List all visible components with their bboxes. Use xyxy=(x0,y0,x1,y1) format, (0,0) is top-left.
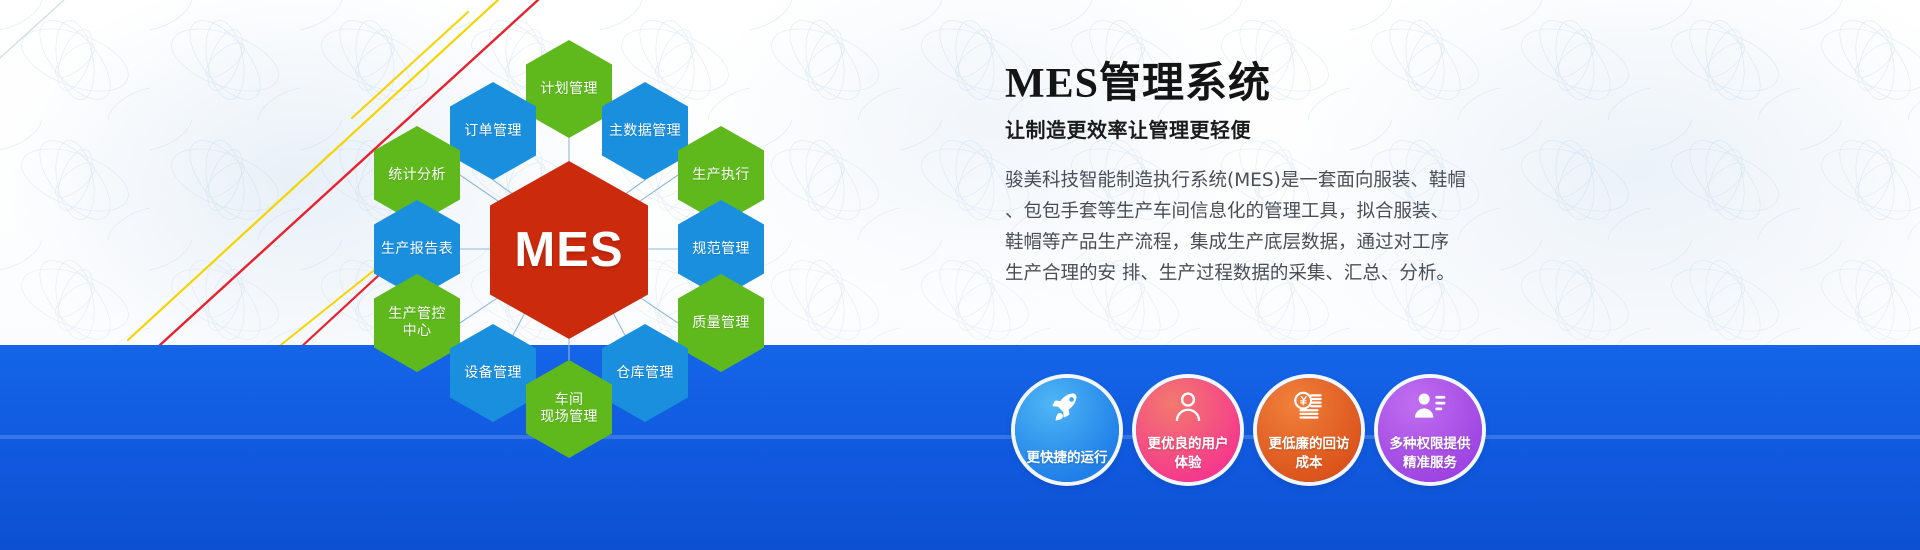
hex-node-label: 质量管理 xyxy=(688,315,754,332)
description-paragraph: 骏美科技智能制造执行系统(MES)是一套面向服装、鞋帽、包包手套等生产车间信息化… xyxy=(1005,165,1565,289)
user-icon xyxy=(1171,390,1205,424)
feature-badge-label: 多种权限提供精准服务 xyxy=(1384,435,1477,473)
hex-node-label: 车间现场管理 xyxy=(536,392,602,426)
hex-node-label: 规范管理 xyxy=(688,241,754,258)
background-blue-highlight-strip xyxy=(0,435,1920,439)
description-line-1: 骏美科技智能制造执行系统(MES)是一套面向服装、鞋帽 xyxy=(1005,165,1565,196)
page-title: MES管理系统 xyxy=(1005,60,1645,108)
hex-node-label: 生产管控中心 xyxy=(384,306,450,340)
hex-node-label: 统计分析 xyxy=(384,167,450,184)
page-subtitle: 让制造更效率让管理更轻便 xyxy=(1005,114,1645,143)
rocket-icon xyxy=(1050,390,1084,424)
feature-badge-cost[interactable]: 更低廉的回访成本 xyxy=(1257,378,1361,482)
hex-node-label: 生产报告表 xyxy=(377,241,457,258)
hex-node-label: 主数据管理 xyxy=(605,123,685,140)
hex-node-label: 设备管理 xyxy=(460,365,526,382)
hex-node-label: 仓库管理 xyxy=(612,365,678,382)
feature-badge-list: 更快捷的运行更优良的用户体验更低廉的回访成本多种权限提供精准服务 xyxy=(1015,378,1482,482)
feature-badge-label: 更快捷的运行 xyxy=(1021,449,1114,468)
hex-node-label: 订单管理 xyxy=(460,123,526,140)
feature-badge-label: 更优良的用户体验 xyxy=(1142,435,1235,473)
hex-node-core-label: MES xyxy=(510,242,627,259)
feature-badge-label: 更低廉的回访成本 xyxy=(1263,435,1356,473)
mes-banner: MES计划管理订单管理主数据管理统计分析生产执行生产报告表规范管理生产管控中心质… xyxy=(0,0,1920,550)
user-list-icon xyxy=(1413,390,1447,424)
feature-badge-ux[interactable]: 更优良的用户体验 xyxy=(1136,378,1240,482)
mes-hexagon-diagram: MES计划管理订单管理主数据管理统计分析生产执行生产报告表规范管理生产管控中心质… xyxy=(330,18,800,438)
hex-node-label: 生产执行 xyxy=(688,167,754,184)
background-blue-band xyxy=(0,345,1920,550)
feature-badge-permission[interactable]: 多种权限提供精准服务 xyxy=(1378,378,1482,482)
description-line-4: 生产合理的安 排、生产过程数据的采集、汇总、分析。 xyxy=(1005,258,1565,289)
coins-yen-icon xyxy=(1292,390,1326,424)
feature-badge-speed[interactable]: 更快捷的运行 xyxy=(1015,378,1119,482)
banner-text-column: MES管理系统 让制造更效率让管理更轻便 骏美科技智能制造执行系统(MES)是一… xyxy=(1005,60,1645,289)
description-line-2: 、包包手套等生产车间信息化的管理工具，拟合服装、 xyxy=(1005,196,1565,227)
description-line-3: 鞋帽等产品生产流程，集成生产底层数据，通过对工序 xyxy=(1005,227,1565,258)
hex-node-label: 计划管理 xyxy=(536,81,602,98)
